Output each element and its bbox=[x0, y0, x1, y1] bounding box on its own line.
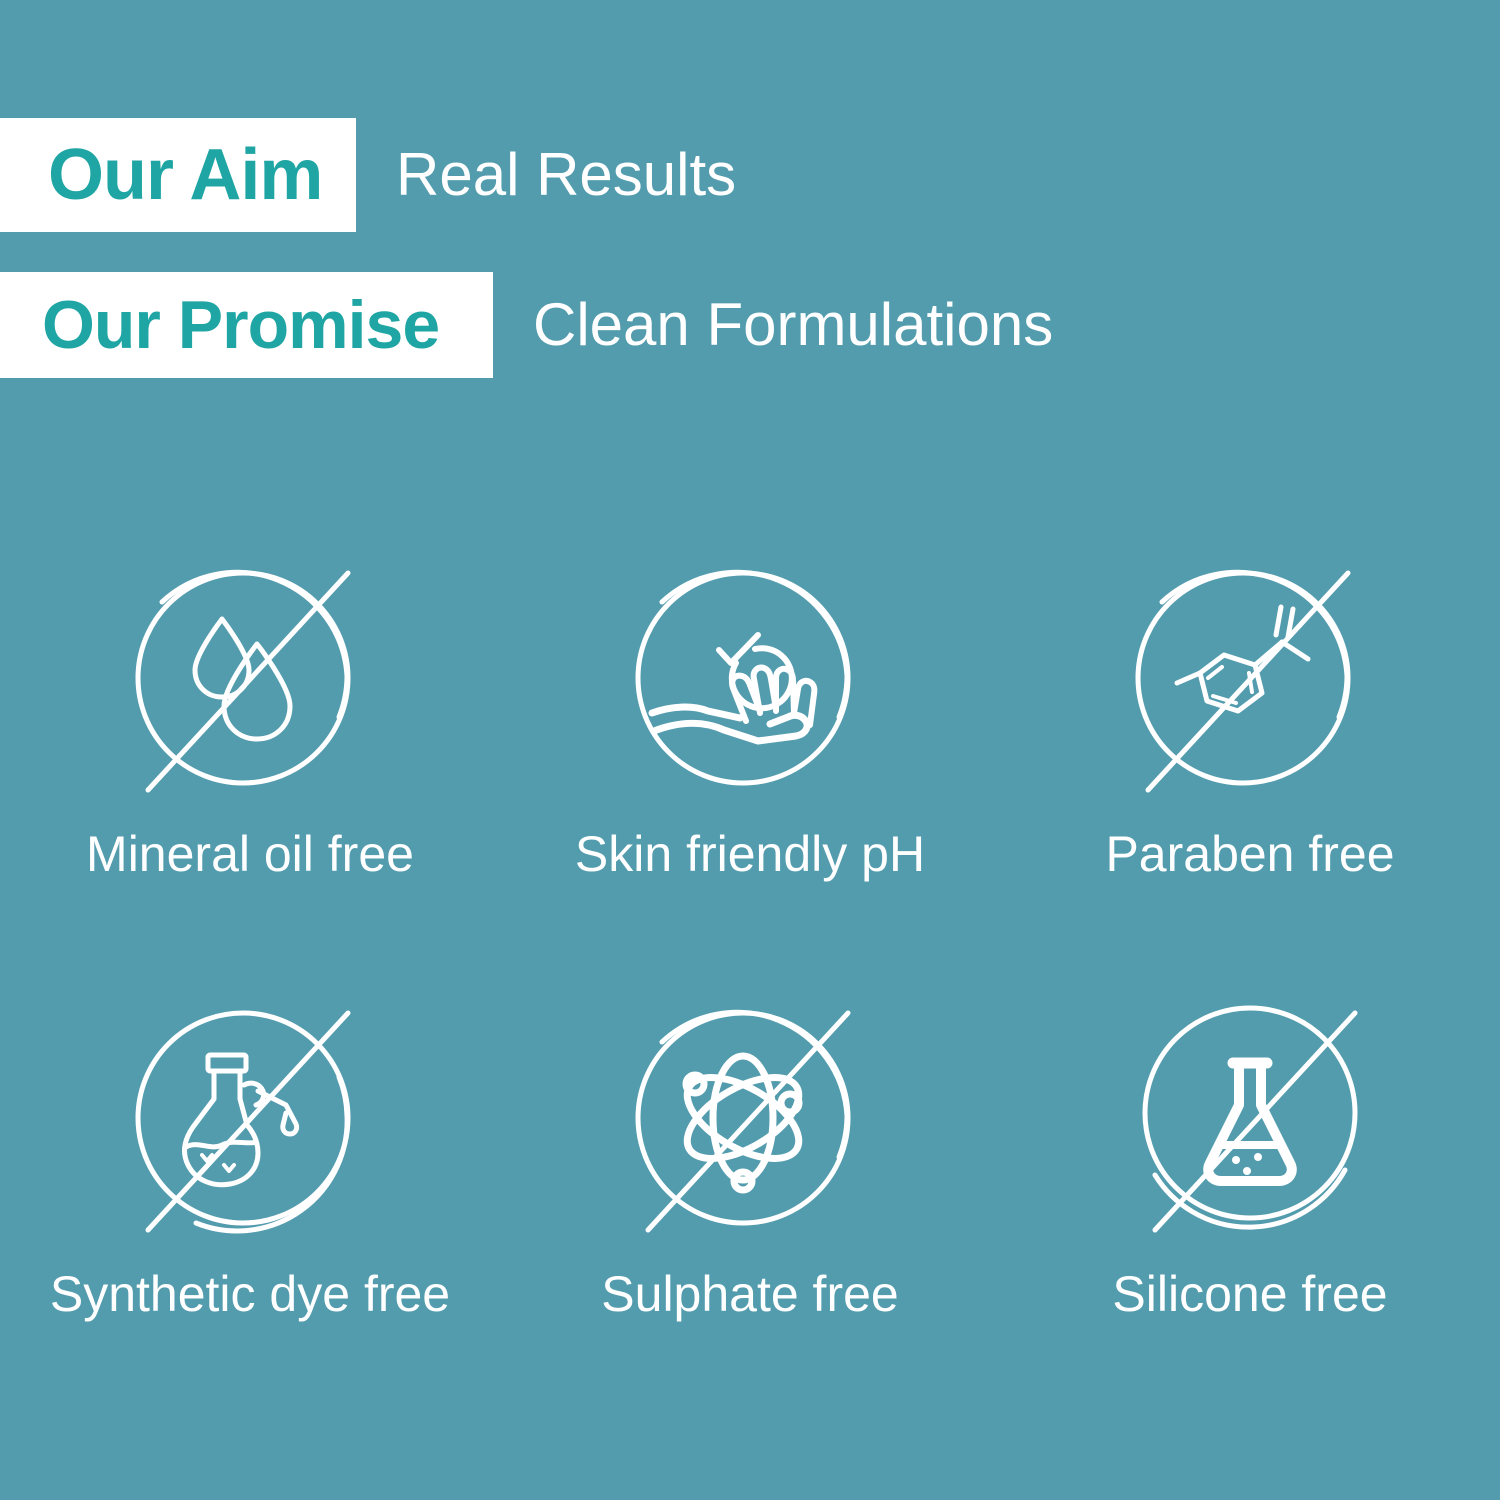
feature-label: Mineral oil free bbox=[86, 828, 414, 881]
header-value-clean-formulations: Clean Formulations bbox=[533, 272, 1053, 378]
feature-item-mineral-oil-free: Mineral oil free bbox=[0, 545, 500, 985]
atom-icon bbox=[600, 985, 900, 1250]
feature-label: Synthetic dye free bbox=[50, 1268, 450, 1321]
header-row-promise: Our Promise Clean Formulations bbox=[0, 272, 1053, 378]
feature-item-skin-friendly-ph: Skin friendly pH bbox=[500, 545, 1000, 985]
dropper-flask-icon bbox=[100, 985, 400, 1250]
feature-item-sulphate-free: Sulphate free bbox=[500, 985, 1000, 1425]
feature-item-synthetic-dye-free: Synthetic dye free bbox=[0, 985, 500, 1425]
feature-item-paraben-free: Paraben free bbox=[1000, 545, 1500, 985]
tag-label-our-aim: Our Aim bbox=[48, 139, 322, 211]
water-droplets-icon bbox=[100, 545, 400, 810]
header-row-aim: Our Aim Real Results bbox=[0, 118, 736, 232]
benzene-molecule-icon bbox=[1100, 545, 1400, 810]
erlenmeyer-flask-icon bbox=[1100, 985, 1400, 1250]
tag-box-our-aim: Our Aim bbox=[0, 118, 356, 232]
hand-with-check-icon bbox=[600, 545, 900, 810]
feature-label: Skin friendly pH bbox=[575, 828, 925, 881]
tag-label-our-promise: Our Promise bbox=[42, 291, 439, 359]
feature-grid: Mineral oil free Skin friendly pH bbox=[0, 545, 1500, 1425]
header-value-real-results: Real Results bbox=[396, 118, 736, 232]
feature-label: Sulphate free bbox=[601, 1268, 898, 1321]
tag-box-our-promise: Our Promise bbox=[0, 272, 493, 378]
feature-label: Silicone free bbox=[1112, 1268, 1387, 1321]
feature-label: Paraben free bbox=[1105, 828, 1394, 881]
feature-item-silicone-free: Silicone free bbox=[1000, 985, 1500, 1425]
